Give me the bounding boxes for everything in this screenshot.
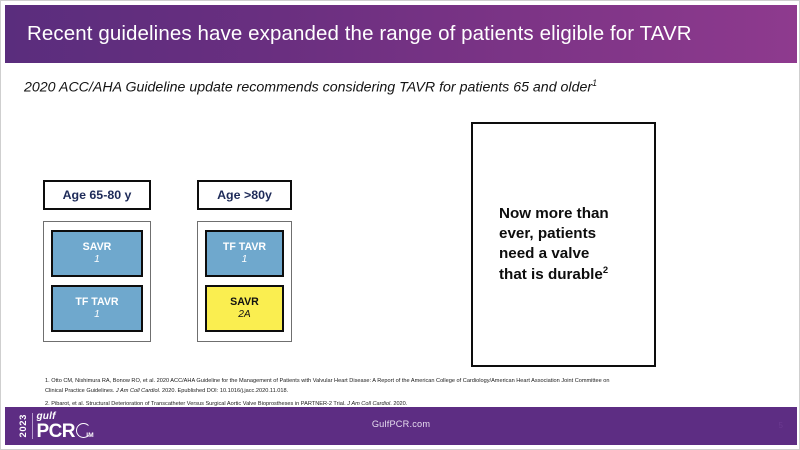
callout-line-2: ever, patients <box>499 225 596 242</box>
subtitle-text: 2020 ACC/AHA Guideline update recommends… <box>24 80 592 96</box>
recommendation-name: SAVR <box>83 242 112 254</box>
callout-box: Now more than ever, patients need a valv… <box>471 122 656 367</box>
slide-canvas: Recent guidelines have expanded the rang… <box>0 0 800 450</box>
recommendation-box-tf-tavr-1: TF TAVR 1 <box>205 230 284 277</box>
age-header-65-80: Age 65-80 y <box>43 180 151 210</box>
footnote-marker: 2. <box>45 401 50 407</box>
footnote-journal: J Am Coll Cardiol <box>116 388 159 394</box>
callout-line-4: that is durable <box>499 266 603 283</box>
page-title: Recent guidelines have expanded the rang… <box>5 22 692 46</box>
age-header-label: Age >80y <box>217 188 272 202</box>
footnote-text-tail: . 2020. <box>390 401 407 407</box>
recommendation-class: 2A <box>238 309 250 320</box>
callout-footnote-marker: 2 <box>603 264 608 275</box>
page-number: 5 <box>779 421 783 430</box>
recommendation-class: 1 <box>94 309 100 320</box>
footer-bar: 2023 gulf PCR IM GulfPCR.com 5 <box>5 407 797 445</box>
slide-title-bar: Recent guidelines have expanded the rang… <box>5 5 797 63</box>
recommendation-name: TF TAVR <box>223 242 266 254</box>
recommendation-name: TF TAVR <box>75 297 118 309</box>
footnote-text-tail: . 2020. Epublished DOI: 10.1016/j.jacc.2… <box>159 388 288 394</box>
logo-im-text: IM <box>86 433 94 440</box>
footnote-1: 1. Otto CM, Nishimura RA, Bonow RO, et a… <box>45 377 625 397</box>
footer-website-url[interactable]: GulfPCR.com <box>5 419 797 429</box>
recommendation-frame-65-80: SAVR 1 TF TAVR 1 <box>43 221 151 342</box>
recommendation-class: 1 <box>242 254 248 265</box>
subtitle-footnote-marker: 1 <box>592 78 597 88</box>
recommendation-box-tf-tavr-1: TF TAVR 1 <box>51 285 143 332</box>
callout-line-3: need a valve <box>499 245 589 262</box>
recommendation-box-savr-1: SAVR 1 <box>51 230 143 277</box>
footnote-journal: J Am Coll Cardiol <box>347 401 390 407</box>
slide-subtitle: 2020 ACC/AHA Guideline update recommends… <box>24 78 597 96</box>
recommendation-box-savr-2a: SAVR 2A <box>205 285 284 332</box>
recommendation-class: 1 <box>94 254 100 265</box>
callout-text: Now more than ever, patients need a valv… <box>473 204 609 284</box>
recommendation-name: SAVR <box>230 297 259 309</box>
recommendation-frame-over-80: TF TAVR 1 SAVR 2A <box>197 221 292 342</box>
age-column-65-80: Age 65-80 y SAVR 1 TF TAVR 1 <box>43 180 151 342</box>
footnote-text: Pibarot, et al. Structural Deterioration… <box>51 401 347 407</box>
age-header-over-80: Age >80y <box>197 180 292 210</box>
age-column-over-80: Age >80y TF TAVR 1 SAVR 2A <box>197 180 292 342</box>
callout-line-1: Now more than <box>499 205 609 222</box>
footnote-marker: 1. <box>45 378 50 384</box>
age-header-label: Age 65-80 y <box>63 188 132 202</box>
footnotes: 1. Otto CM, Nishimura RA, Bonow RO, et a… <box>45 377 625 409</box>
